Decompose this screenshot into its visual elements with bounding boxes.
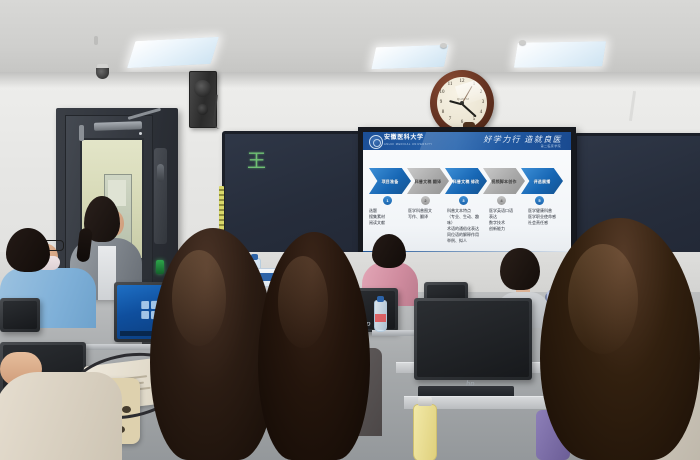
- flow-step-3: 科普文稿 修改: [445, 168, 487, 194]
- detail-column-4: 医学英语口语 表达 数字技术 创新能力: [489, 208, 529, 232]
- slide-header-bar: 安徽医科大学 ANHUI MEDICAL UNIVERSITY 好学力行 造就良…: [363, 132, 571, 150]
- door-handle[interactable]: [157, 164, 164, 182]
- clock-numeral: 8: [439, 110, 447, 116]
- student-beige-sweater: [0, 372, 122, 460]
- ceiling-light-panel: [514, 41, 606, 68]
- desktop-monitor: [0, 298, 40, 332]
- flow-step-label: 科普文稿 修改: [452, 179, 480, 184]
- university-name-en: ANHUI MEDICAL UNIVERSITY: [384, 143, 433, 146]
- flow-step-label: 科普文稿 翻译: [414, 179, 442, 184]
- classroom-photo: 12 1 2 3 4 5 6 7 8 9 10 11 QUARTZ 王: [0, 0, 700, 460]
- detail-column-3: 科普文本特点 （专业、生动、趣 味） 术语的通俗化表达 同位语的解释作用 举例、…: [447, 208, 487, 244]
- ceiling-speaker-vent-icon: [519, 40, 526, 45]
- university-name-cn: 安徽医科大学: [384, 135, 424, 142]
- flow-step-5: 评选展播: [521, 168, 563, 194]
- green-status-led: [156, 260, 164, 274]
- door-lock-plate: [154, 148, 167, 244]
- chalk-writing: 王: [247, 152, 266, 171]
- clock-numeral: 9: [437, 100, 445, 106]
- flow-node-1: 1: [383, 196, 392, 205]
- detail-column-5: 医学健康科普 医学职业使命感 社会责任感: [528, 208, 568, 226]
- flow-node-4: 4: [497, 196, 506, 205]
- university-seal-icon: [369, 135, 383, 149]
- detail-line: 社会责任感: [528, 220, 568, 226]
- detail-line: 创新能力: [489, 226, 529, 232]
- flow-step-4: 视频脚本创作: [483, 168, 525, 194]
- desktop-monitor[interactable]: hp: [414, 298, 532, 380]
- process-flow-diagram: 项目准备 1 科普文稿 翻译 2 科普文稿 修改 3 视频脚本创作 4 评选展播: [369, 168, 565, 196]
- door-peephole-icon: [139, 132, 142, 135]
- flow-node-index: 3: [462, 198, 464, 203]
- flow-step-2: 科普文稿 翻译: [407, 168, 449, 194]
- flow-node-index: 4: [500, 198, 502, 203]
- juice-bottle: [413, 404, 437, 460]
- detail-line: 举例、拟人: [447, 238, 487, 244]
- flow-step-1: 项目准备: [369, 168, 411, 194]
- flow-node-2: 2: [421, 196, 430, 205]
- flow-node-3: 3: [459, 196, 468, 205]
- sprinkler-icon: [94, 36, 98, 45]
- ceiling-light-panel: [371, 45, 448, 69]
- ceiling-speaker-vent-icon: [440, 43, 447, 48]
- slide-motto-sub: 第二临床学院: [541, 144, 561, 148]
- door-closer-icon: [94, 121, 142, 131]
- flow-step-label: 视频脚本创作: [490, 179, 518, 184]
- detail-column-1: 选题 搜集素材 阅读文献: [369, 208, 409, 226]
- clock-numeral: 7: [446, 117, 454, 123]
- water-bottle: [374, 300, 387, 332]
- clock-numeral: 4: [477, 110, 485, 116]
- clock-numeral: 11: [446, 82, 454, 88]
- detail-column-2: 医学科普图文 写作、翻译: [408, 208, 448, 220]
- dome-camera-icon: [96, 64, 109, 80]
- flow-node-index: 1: [386, 198, 388, 203]
- clock-numeral: 10: [438, 90, 446, 96]
- detail-line: 写作、翻译: [408, 214, 448, 220]
- flow-step-label: 项目准备: [376, 179, 404, 184]
- ceiling-light-panel: [127, 37, 219, 68]
- flow-step-label: 评选展播: [528, 179, 556, 184]
- flow-node-index: 5: [538, 198, 540, 203]
- clock-numeral: 3: [479, 100, 487, 106]
- flow-node-index: 2: [424, 198, 426, 203]
- clock-minute-hand: [461, 103, 476, 117]
- flow-node-5: 5: [535, 196, 544, 205]
- detail-line: 阅读文献: [369, 220, 409, 226]
- door-closer-pin: [79, 125, 84, 141]
